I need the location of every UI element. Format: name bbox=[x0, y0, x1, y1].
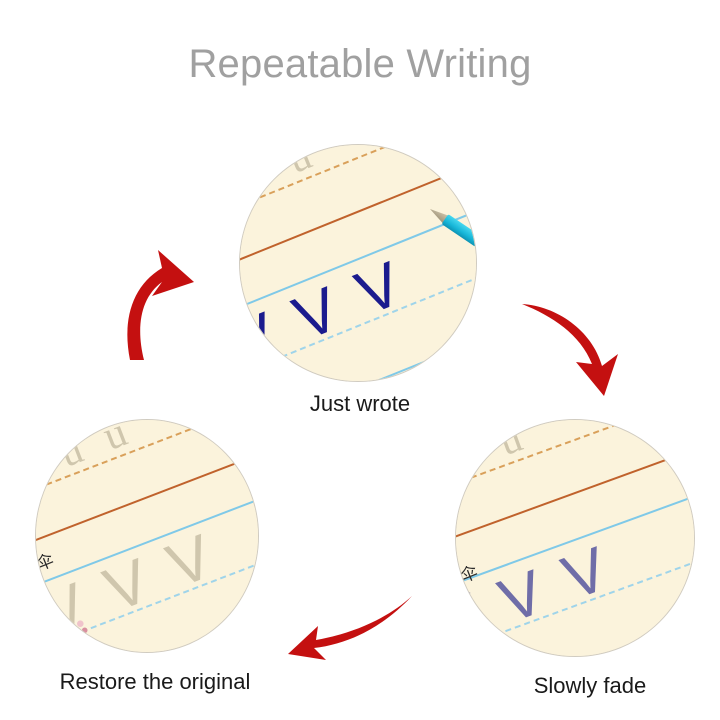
letter-glyph: V bbox=[160, 526, 221, 599]
letter-glyph: u bbox=[54, 428, 89, 475]
letter-glyph: V bbox=[492, 562, 552, 634]
arrow-slowly-fade-to-restore bbox=[288, 592, 416, 668]
floral-decoration bbox=[470, 616, 496, 638]
floral-decoration bbox=[66, 616, 92, 638]
caption-slowly-fade: Slowly fade bbox=[470, 672, 710, 700]
page-title: Repeatable Writing bbox=[0, 40, 720, 88]
letter-glyph: V bbox=[240, 304, 285, 377]
letter-glyph: V bbox=[349, 253, 411, 326]
letter-glyph: V bbox=[286, 279, 348, 352]
letter-glyph: u bbox=[98, 420, 133, 458]
letter-glyph: V bbox=[97, 550, 158, 623]
letter-glyph: u bbox=[36, 445, 45, 492]
caption-restore-the-original: Restore the original bbox=[30, 668, 280, 696]
letter-glyph: u bbox=[456, 433, 484, 480]
arrow-just-wrote-to-slowly-fade bbox=[518, 288, 642, 400]
letter-glyph: u bbox=[494, 420, 528, 464]
arrow-restore-to-just-wrote bbox=[118, 248, 234, 364]
letter-glyph: u bbox=[240, 152, 274, 199]
step-image-just-wrote[interactable]: u u u u u V V V V bbox=[240, 145, 476, 381]
infographic-canvas: Repeatable Writing u u u u u V V V V bbox=[0, 0, 720, 720]
step-image-restore-the-original[interactable]: u u u u u V V V V 伞 bbox=[36, 420, 258, 652]
letter-glyph: u bbox=[282, 145, 317, 181]
practice-sheet: u u u u u V V V V bbox=[240, 145, 476, 381]
step-image-slowly-fade[interactable]: u u u u u V V V V V V 伞 bbox=[456, 420, 694, 656]
letter-glyph: V bbox=[555, 539, 615, 611]
